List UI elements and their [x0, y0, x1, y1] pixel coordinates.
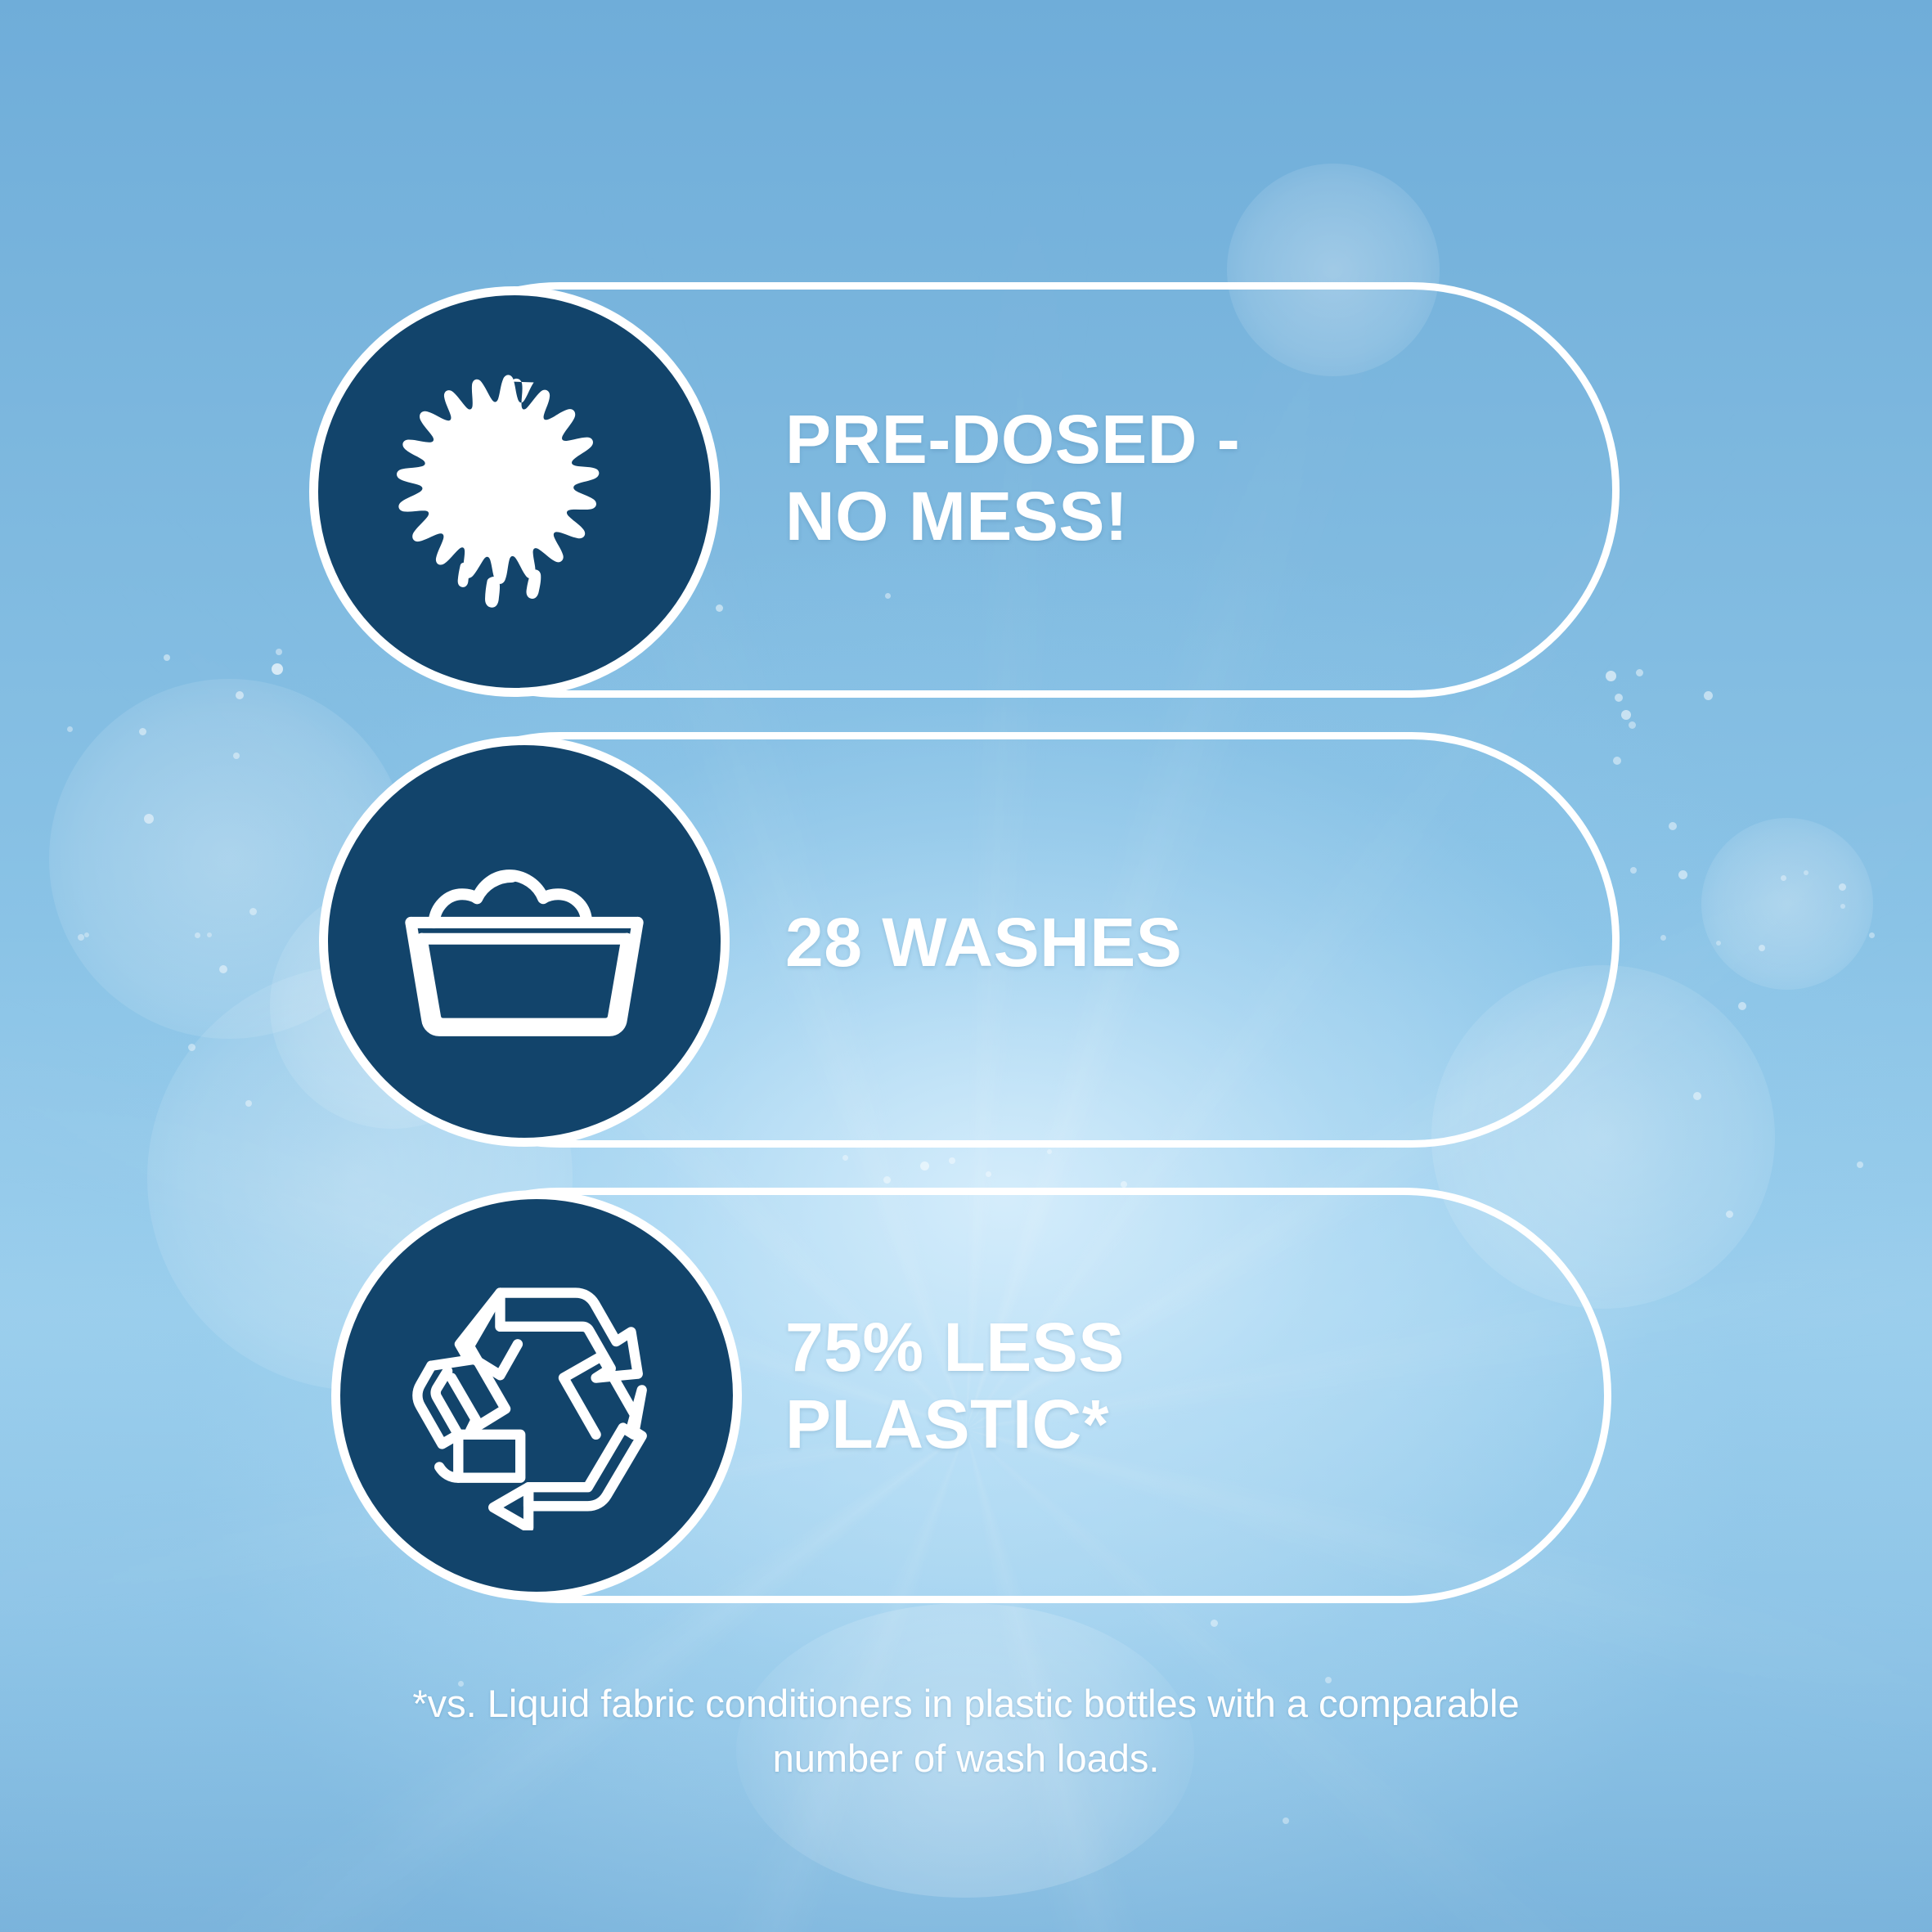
feature-label-pre-dosed: PRE-DOSED - NO MESS! — [785, 401, 1562, 555]
feature-icon-badge-pre-dosed — [309, 286, 720, 697]
feature-icon-badge-washes — [319, 736, 730, 1147]
feature-icon-badge-less-plastic — [331, 1190, 742, 1601]
infographic-canvas: PRE-DOSED - NO MESS! — [0, 0, 1932, 1932]
recycling-icon — [402, 1260, 672, 1530]
feature-list: PRE-DOSED - NO MESS! — [0, 0, 1932, 1932]
paint-splat-icon — [380, 357, 649, 627]
feature-label-washes: 28 WASHES — [785, 904, 1562, 981]
laundry-basket-icon — [389, 806, 659, 1076]
footnote-disclaimer: *vs. Liquid fabric conditioners in plast… — [0, 1677, 1932, 1786]
feature-label-less-plastic: 75% LESS PLASTIC* — [785, 1309, 1562, 1462]
